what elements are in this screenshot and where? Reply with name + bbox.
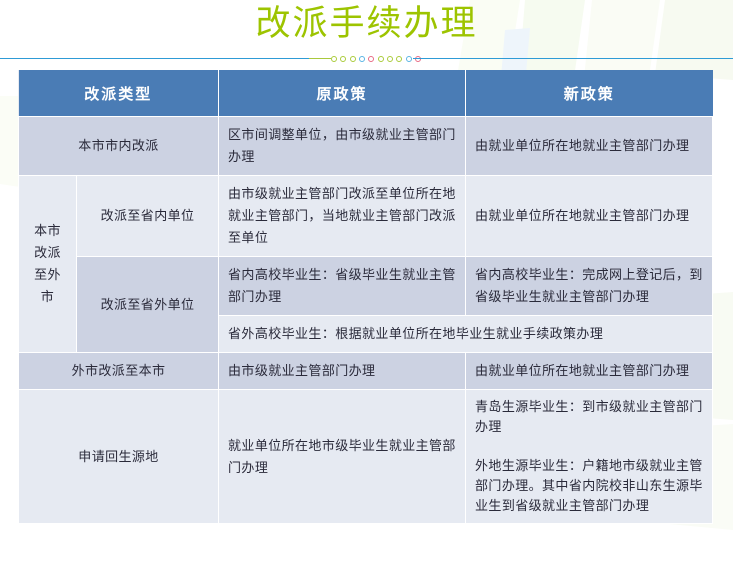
row-new-policy-3: 省内高校毕业生：完成网上登记后，到省级毕业生就业主管部门办理: [466, 257, 713, 316]
row-old-policy-6: 就业单位所在地市级毕业生就业主管部门办理: [219, 390, 466, 524]
row-category-2: 改派至省内单位: [77, 176, 219, 257]
divider-dot-2: [340, 56, 346, 62]
divider-rule-mid-left: [309, 58, 331, 59]
policy-comparison-table: 改派类型 原政策 新政策 本市市内改派 区市间调整单位，由市级就业主管部门办理 …: [18, 70, 713, 524]
table-row: 本市改派至外市 改派至省内单位 由市级就业主管部门改派至单位所在地就业主管部门，…: [19, 176, 713, 257]
row-new-policy-6-para-1: 青岛生源毕业生：到市级就业主管部门办理: [475, 397, 703, 437]
row-new-policy-6-para-2: 外地生源毕业生：户籍地市级就业主管部门办理。其中省内院校非山东生源毕业生到省级就…: [475, 456, 703, 516]
row-category-6: 申请回生源地: [19, 390, 219, 524]
table-header-row: 改派类型 原政策 新政策: [19, 70, 713, 117]
row-new-policy-6: 青岛生源毕业生：到市级就业主管部门办理 外地生源毕业生：户籍地市级就业主管部门办…: [466, 390, 713, 524]
row-new-policy-1: 由就业单位所在地就业主管部门办理: [466, 117, 713, 176]
row-old-policy-3: 省内高校毕业生：省级毕业生就业主管部门办理: [219, 257, 466, 316]
divider-rule-right: [413, 58, 733, 59]
column-header-old-policy: 原政策: [219, 70, 466, 117]
divider-dot-7: [387, 56, 393, 62]
divider-rule-left: [0, 58, 320, 59]
divider-dot-cluster: [331, 53, 421, 65]
row-new-policy-2: 由就业单位所在地就业主管部门办理: [466, 176, 713, 257]
table-row: 外市改派至本市 由市级就业主管部门办理 由就业单位所在地就业主管部门办理: [19, 353, 713, 390]
table-row: 申请回生源地 就业单位所在地市级毕业生就业主管部门办理 青岛生源毕业生：到市级就…: [19, 390, 713, 524]
row-span-policy-4: 省外高校毕业生：根据就业单位所在地毕业生就业手续政策办理: [219, 316, 713, 353]
decorative-divider: [0, 52, 733, 66]
row-category-3: 改派至省外单位: [77, 257, 219, 353]
divider-dot-5: [368, 56, 374, 62]
row-old-policy-5: 由市级就业主管部门办理: [219, 353, 466, 390]
divider-dot-10: [415, 56, 421, 62]
divider-dot-6: [378, 56, 384, 62]
page-title: 改派手续办理: [0, 2, 733, 46]
row-new-policy-5: 由就业单位所在地就业主管部门办理: [466, 353, 713, 390]
row-category-5: 外市改派至本市: [19, 353, 219, 390]
divider-dot-8: [396, 56, 402, 62]
divider-dot-4: [359, 56, 365, 62]
divider-dot-9: [406, 56, 412, 62]
title-bar: 改派手续办理: [0, 0, 733, 58]
table-row: 本市市内改派 区市间调整单位，由市级就业主管部门办理 由就业单位所在地就业主管部…: [19, 117, 713, 176]
column-header-category: 改派类型: [19, 70, 219, 117]
row-category-1: 本市市内改派: [19, 117, 219, 176]
divider-dot-3: [350, 56, 356, 62]
table-row: 改派至省外单位 省内高校毕业生：省级毕业生就业主管部门办理 省内高校毕业生：完成…: [19, 257, 713, 316]
divider-dot-1: [331, 56, 337, 62]
row-old-policy-1: 区市间调整单位，由市级就业主管部门办理: [219, 117, 466, 176]
row-group-label: 本市改派至外市: [19, 176, 77, 353]
row-old-policy-2: 由市级就业主管部门改派至单位所在地就业主管部门，当地就业主管部门改派至单位: [219, 176, 466, 257]
column-header-new-policy: 新政策: [466, 70, 713, 117]
